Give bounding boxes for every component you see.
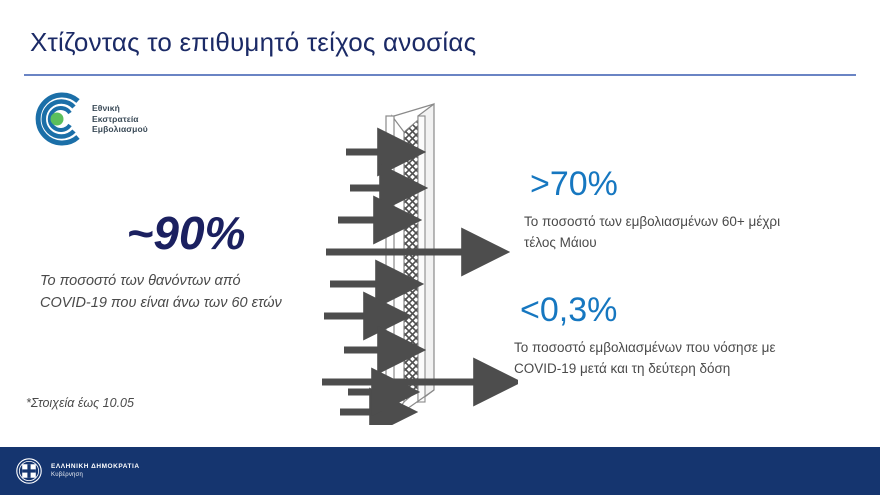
stat-caption-left-line1: Το ποσοστό των θανόντων από [40, 270, 336, 292]
campaign-logo-text: Εθνική Εκστρατεία Εμβολιασμού [92, 103, 148, 135]
stat-value-90: ~90% [36, 206, 336, 260]
footer-bar: ΕΛΛΗΝΙΚΗ ΔΗΜΟΚΡΑΤΙΑ Κυβέρνηση [0, 447, 880, 495]
slide-root: Χτίζοντας το επιθυμητό τείχος ανοσίας Εθ… [0, 0, 880, 495]
logo-line-2: Εκστρατεία [92, 114, 148, 125]
wall-slab [386, 104, 434, 418]
stat-block-left: ~90% Το ποσοστό των θανόντων από COVID-1… [36, 206, 336, 314]
footer-text-group: ΕΛΛΗΝΙΚΗ ΔΗΜΟΚΡΑΤΙΑ Κυβέρνηση [51, 462, 140, 480]
campaign-logo: Εθνική Εκστρατεία Εμβολιασμού [30, 92, 148, 146]
logo-line-1: Εθνική [92, 103, 148, 114]
stat-caption-right-top-line2: τέλος Μάιου [524, 232, 780, 253]
stat-block-right-top: >70% Το ποσοστό των εμβολιασμένων 60+ μέ… [524, 164, 780, 253]
footer-title: ΕΛΛΗΝΙΚΗ ΔΗΜΟΚΡΑΤΙΑ [51, 462, 140, 471]
stat-caption-right-top-line1: Το ποσοστό των εμβολιασμένων 60+ μέχρι [524, 211, 780, 232]
stat-value-03: <0,3% [520, 290, 775, 330]
page-title: Χτίζοντας το επιθυμητό τείχος ανοσίας [30, 26, 476, 58]
footnote: *Στοιχεία έως 10.05 [26, 396, 134, 410]
title-divider [24, 74, 856, 76]
stat-value-70: >70% [530, 164, 780, 204]
footer-subtitle: Κυβέρνηση [51, 471, 140, 480]
stat-block-right-bottom: <0,3% Το ποσοστό εμβολιασμένων που νόσησ… [514, 290, 775, 379]
hellenic-republic-emblem-icon [16, 458, 42, 484]
stat-caption-right-bottom-line2: COVID-19 μετά και τη δεύτερη δόση [514, 358, 775, 379]
stat-caption-left: Το ποσοστό των θανόντων από COVID-19 που… [36, 270, 336, 314]
vaccination-campaign-icon [30, 92, 84, 146]
stat-caption-right-top: Το ποσοστό των εμβολιασμένων 60+ μέχρι τ… [524, 211, 780, 253]
logo-center-dot [51, 113, 64, 126]
stat-caption-right-bottom: Το ποσοστό εμβολιασμένων που νόσησε με C… [514, 337, 775, 379]
immunity-wall-graphic [318, 100, 518, 425]
logo-line-3: Εμβολιασμού [92, 124, 148, 135]
stat-caption-right-bottom-line1: Το ποσοστό εμβολιασμένων που νόσησε με [514, 337, 775, 358]
stat-caption-left-line2: COVID-19 που είναι άνω των 60 ετών [40, 292, 336, 314]
incoming-arrows [324, 152, 382, 412]
